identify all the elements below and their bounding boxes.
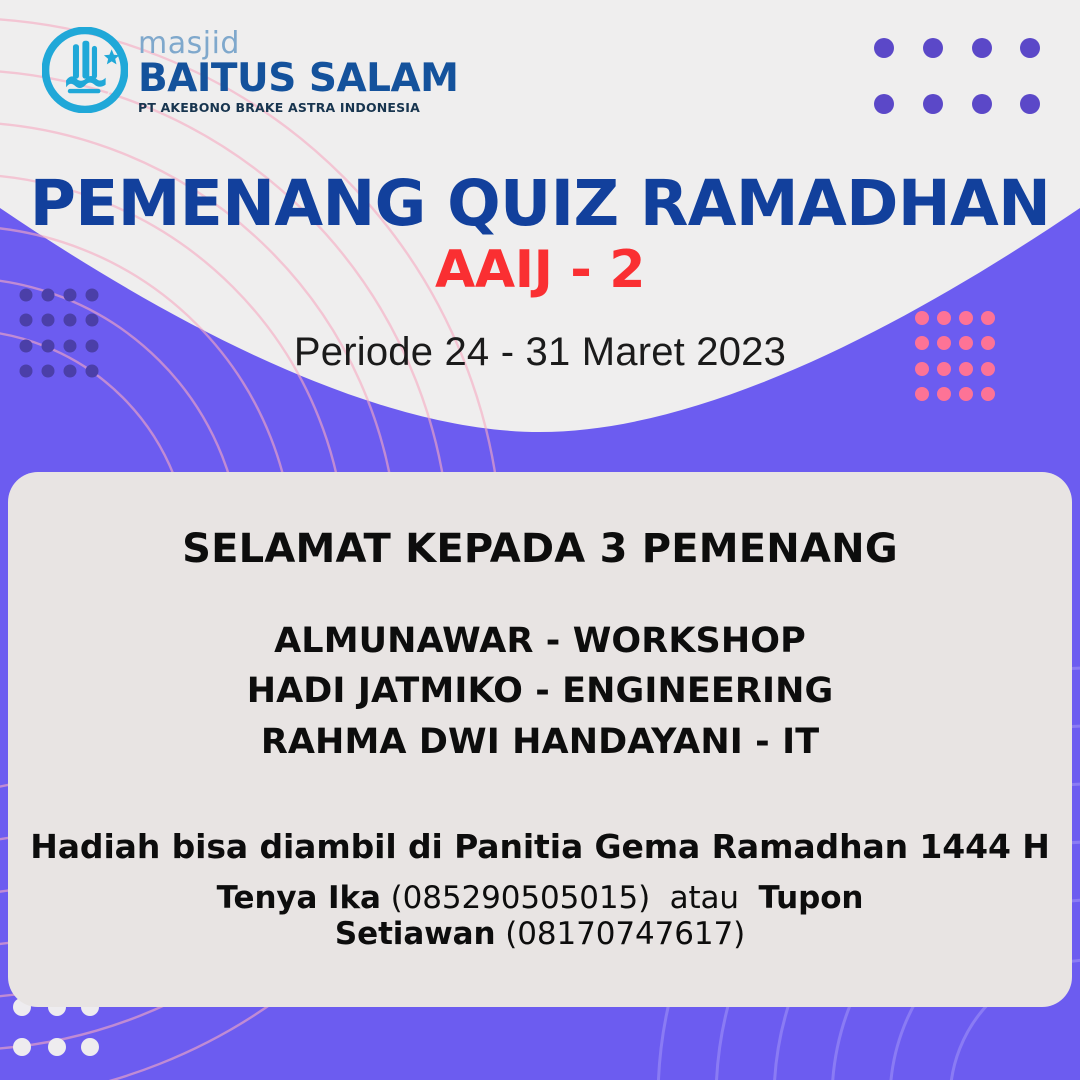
list-item: ALMUNAWAR - WORKSHOP	[8, 616, 1072, 666]
contact-phone-secondary: (08170747617)	[505, 916, 745, 952]
poster-canvas: masjid BAITUS SALAM PT AKEBONO BRAKE AST…	[0, 0, 1080, 1080]
contact-name-primary: Tenya Ika	[217, 880, 381, 916]
brand-company: PT AKEBONO BRAKE ASTRA INDONESIA	[138, 100, 458, 115]
winners-list: ALMUNAWAR - WORKSHOP HADI JATMIKO - ENGI…	[8, 616, 1072, 767]
mosque-crescent-icon	[42, 27, 128, 113]
brand-logo: masjid BAITUS SALAM PT AKEBONO BRAKE AST…	[42, 26, 458, 115]
purple-dot-grid	[874, 38, 1040, 114]
list-item: RAHMA DWI HANDAYANI - IT	[8, 717, 1072, 767]
claim-note: Hadiah bisa diambil di Panitia Gema Rama…	[8, 827, 1072, 866]
period-text: Periode 24 - 31 Maret 2023	[0, 330, 1080, 375]
list-item: HADI JATMIKO - ENGINEERING	[8, 666, 1072, 716]
contact-joiner: atau	[670, 880, 739, 916]
page-title: PEMENANG QUIZ RAMADHAN	[0, 172, 1080, 236]
page-subtitle: AAIJ - 2	[0, 242, 1080, 299]
winners-card: SELAMAT KEPADA 3 PEMENANG ALMUNAWAR - WO…	[8, 472, 1072, 1007]
brand-masjid-word: masjid	[138, 30, 458, 59]
brand-name: BAITUS SALAM	[138, 59, 458, 98]
contact-phone-primary: (085290505015)	[391, 880, 650, 916]
contact-line: Tenya Ika (085290505015) atau Tupon Seti…	[8, 880, 1072, 952]
card-heading: SELAMAT KEPADA 3 PEMENANG	[8, 526, 1072, 572]
brand-wordmark: masjid BAITUS SALAM PT AKEBONO BRAKE AST…	[138, 26, 458, 115]
title-group: PEMENANG QUIZ RAMADHAN AAIJ - 2	[0, 172, 1080, 299]
